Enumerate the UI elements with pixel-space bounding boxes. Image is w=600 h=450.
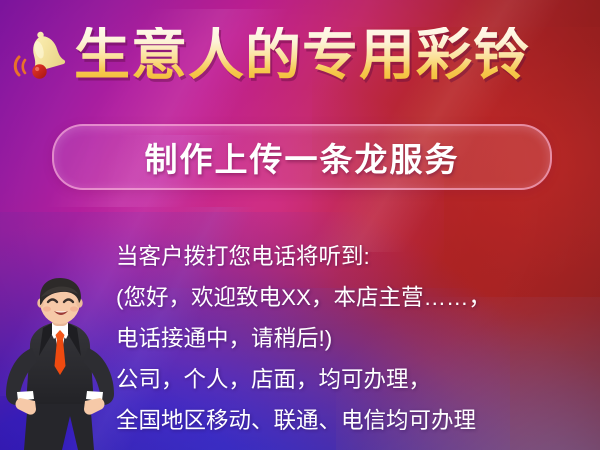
body-line-1: 当客户拨打您电话将听到: [116, 236, 596, 277]
businessman-illustration [0, 276, 118, 450]
promo-poster: 生意人的专用彩铃 制作上传一条龙服务 当客户拨打您电话将听到: (您好，欢迎致电… [0, 0, 600, 450]
subtitle-banner-label: 制作上传一条龙服务 [145, 133, 460, 181]
body-line-4: 公司，个人，店面，均可办理， [116, 359, 596, 400]
body-line-2: (您好，欢迎致电XX，本店主营……， [116, 277, 596, 318]
body-copy: 当客户拨打您电话将听到: (您好，欢迎致电XX，本店主营……， 电话接通中，请稍… [116, 236, 596, 441]
bell-icon [12, 24, 72, 86]
page-title: 生意人的专用彩铃 [74, 27, 600, 83]
body-line-3: 电话接通中，请稍后!) [116, 318, 596, 359]
headline-row: 生意人的专用彩铃 [0, 16, 600, 94]
subtitle-banner: 制作上传一条龙服务 [52, 124, 552, 190]
body-line-5: 全国地区移动、联通、电信均可办理 [116, 400, 596, 441]
